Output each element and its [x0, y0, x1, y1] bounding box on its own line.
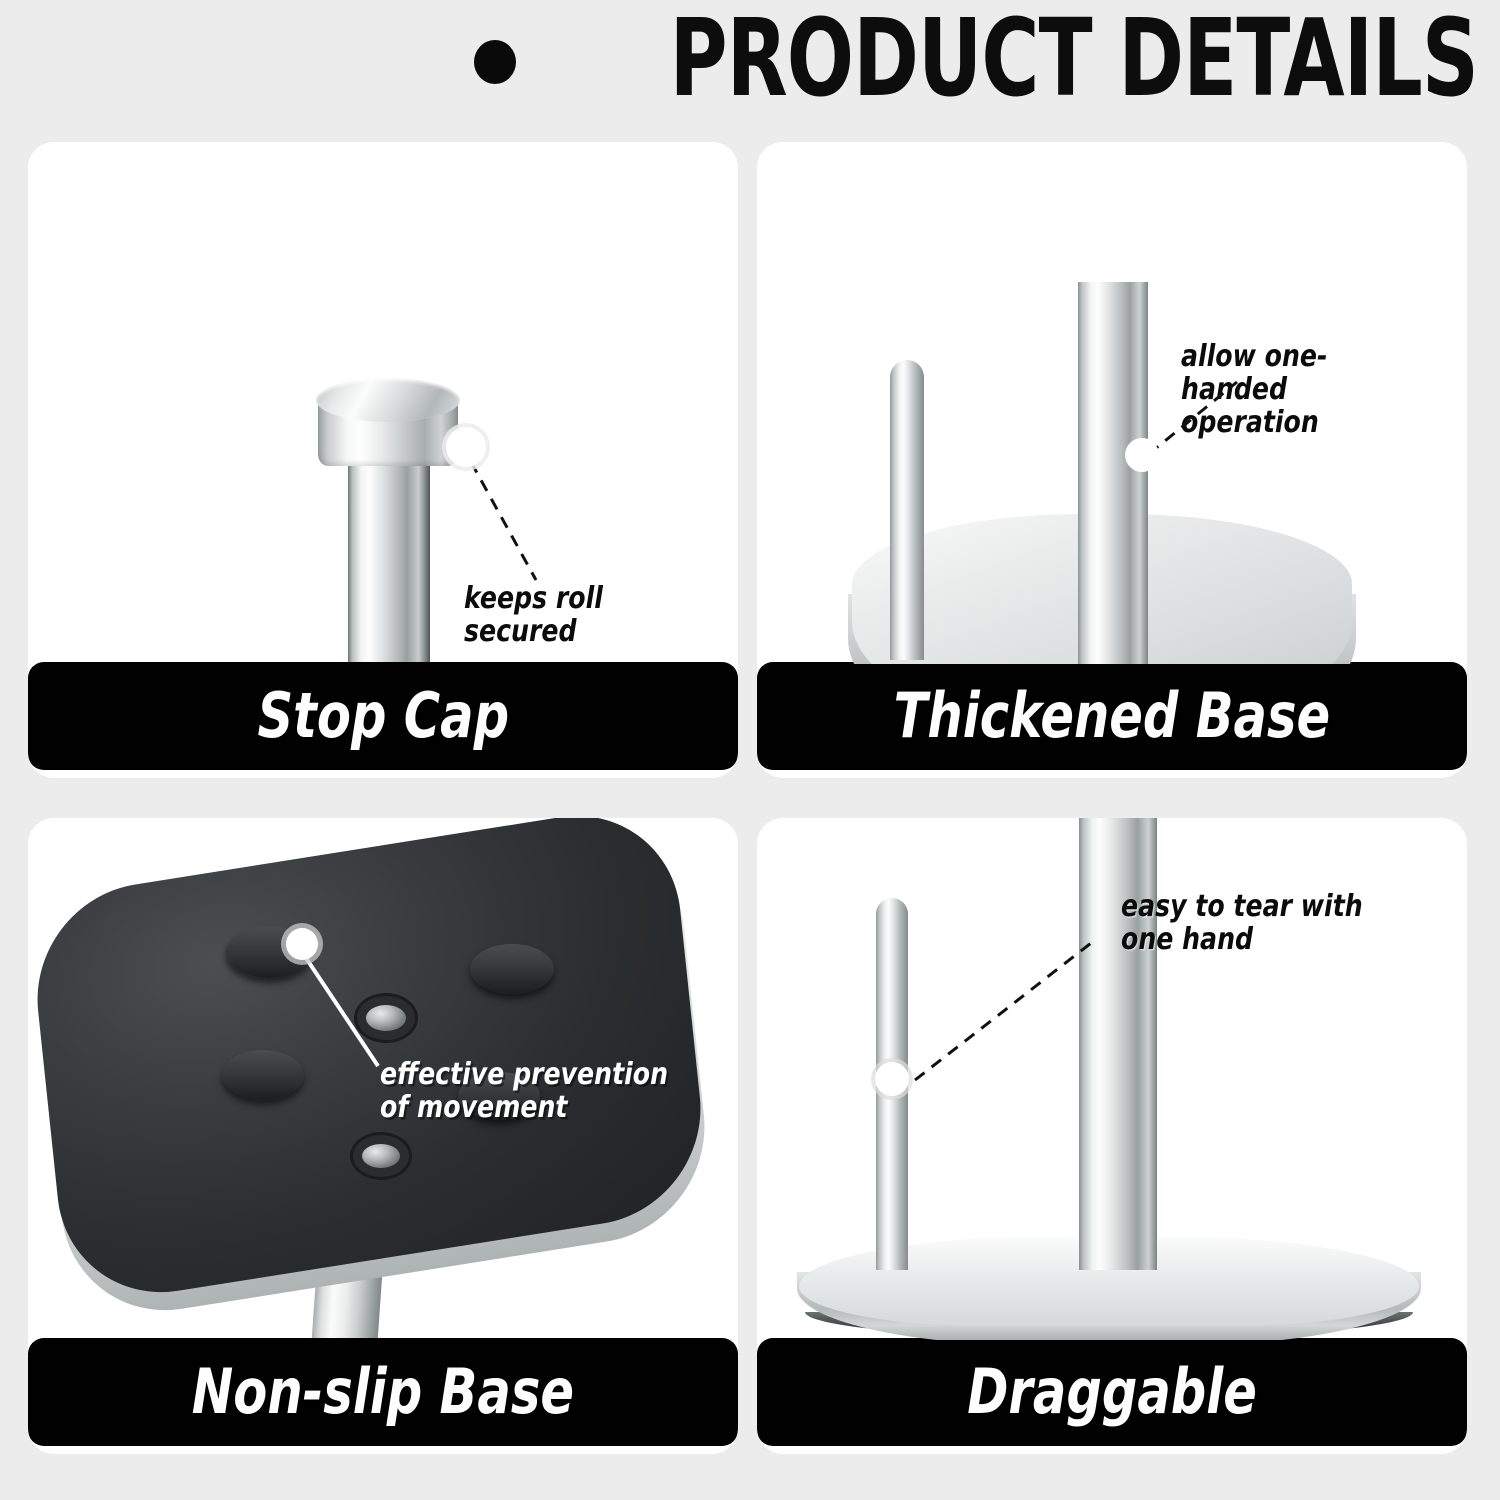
draggable-center-post	[1079, 818, 1157, 1270]
non-slip-base-screw	[362, 1144, 400, 1168]
draggable-illustration: easy to tear with one hand	[757, 818, 1467, 1340]
non-slip-rubber-pad	[222, 1050, 304, 1100]
bullet-dot-icon	[474, 40, 516, 84]
thickened-base-caption-text: Thickened Base	[894, 685, 1331, 747]
draggable-caption-text: Draggable	[967, 1361, 1257, 1423]
product-detail-card-stop-cap[interactable]: keeps roll secured Stop Cap	[28, 142, 738, 778]
page-header-inner: PRODUCT DETAILS	[474, 14, 1478, 104]
non-slip-base-marker-dot	[286, 928, 318, 960]
thickened-base-center-post	[1078, 282, 1148, 664]
non-slip-rubber-pad	[470, 944, 554, 994]
thickened-base-caption-bar: Thickened Base	[757, 662, 1467, 770]
stop-cap-callout-label: keeps roll secured	[464, 582, 694, 648]
non-slip-base-caption-bar: Non-slip Base	[28, 1338, 738, 1446]
stop-cap-illustration: keeps roll secured	[28, 142, 738, 664]
non-slip-base-callout-label: effective prevention of movement	[380, 1058, 668, 1124]
stop-cap-caption-text: Stop Cap	[257, 685, 509, 747]
stop-cap-rod	[348, 442, 430, 664]
product-detail-card-non-slip-base[interactable]: effective prevention of movement Non-sli…	[28, 818, 738, 1454]
page-header: PRODUCT DETAILS	[0, 0, 1500, 130]
stop-cap-caption-bar: Stop Cap	[28, 662, 738, 770]
draggable-caption-bar: Draggable	[757, 1338, 1467, 1446]
thickened-base-illustration: allow one-handed operation	[757, 142, 1467, 664]
thickened-base-callout-label: allow one-handed operation	[1181, 340, 1421, 439]
draggable-callout-label: easy to tear with one hand	[1121, 890, 1363, 956]
non-slip-base-caption-text: Non-slip Base	[192, 1361, 574, 1423]
product-detail-card-thickened-base[interactable]: allow one-handed operation Thickened Bas…	[757, 142, 1467, 778]
non-slip-base-illustration: effective prevention of movement	[28, 818, 738, 1340]
draggable-marker-dot	[875, 1062, 909, 1096]
thickened-base-marker-dot	[1125, 438, 1159, 472]
thickened-base-tear-bar	[890, 360, 924, 660]
non-slip-base-screw	[366, 1005, 406, 1031]
page-title: PRODUCT DETAILS	[670, 7, 1478, 112]
stop-cap-marker-dot	[446, 427, 486, 467]
product-detail-card-draggable[interactable]: easy to tear with one hand Draggable	[757, 818, 1467, 1454]
stop-cap-top-surface	[316, 378, 460, 422]
